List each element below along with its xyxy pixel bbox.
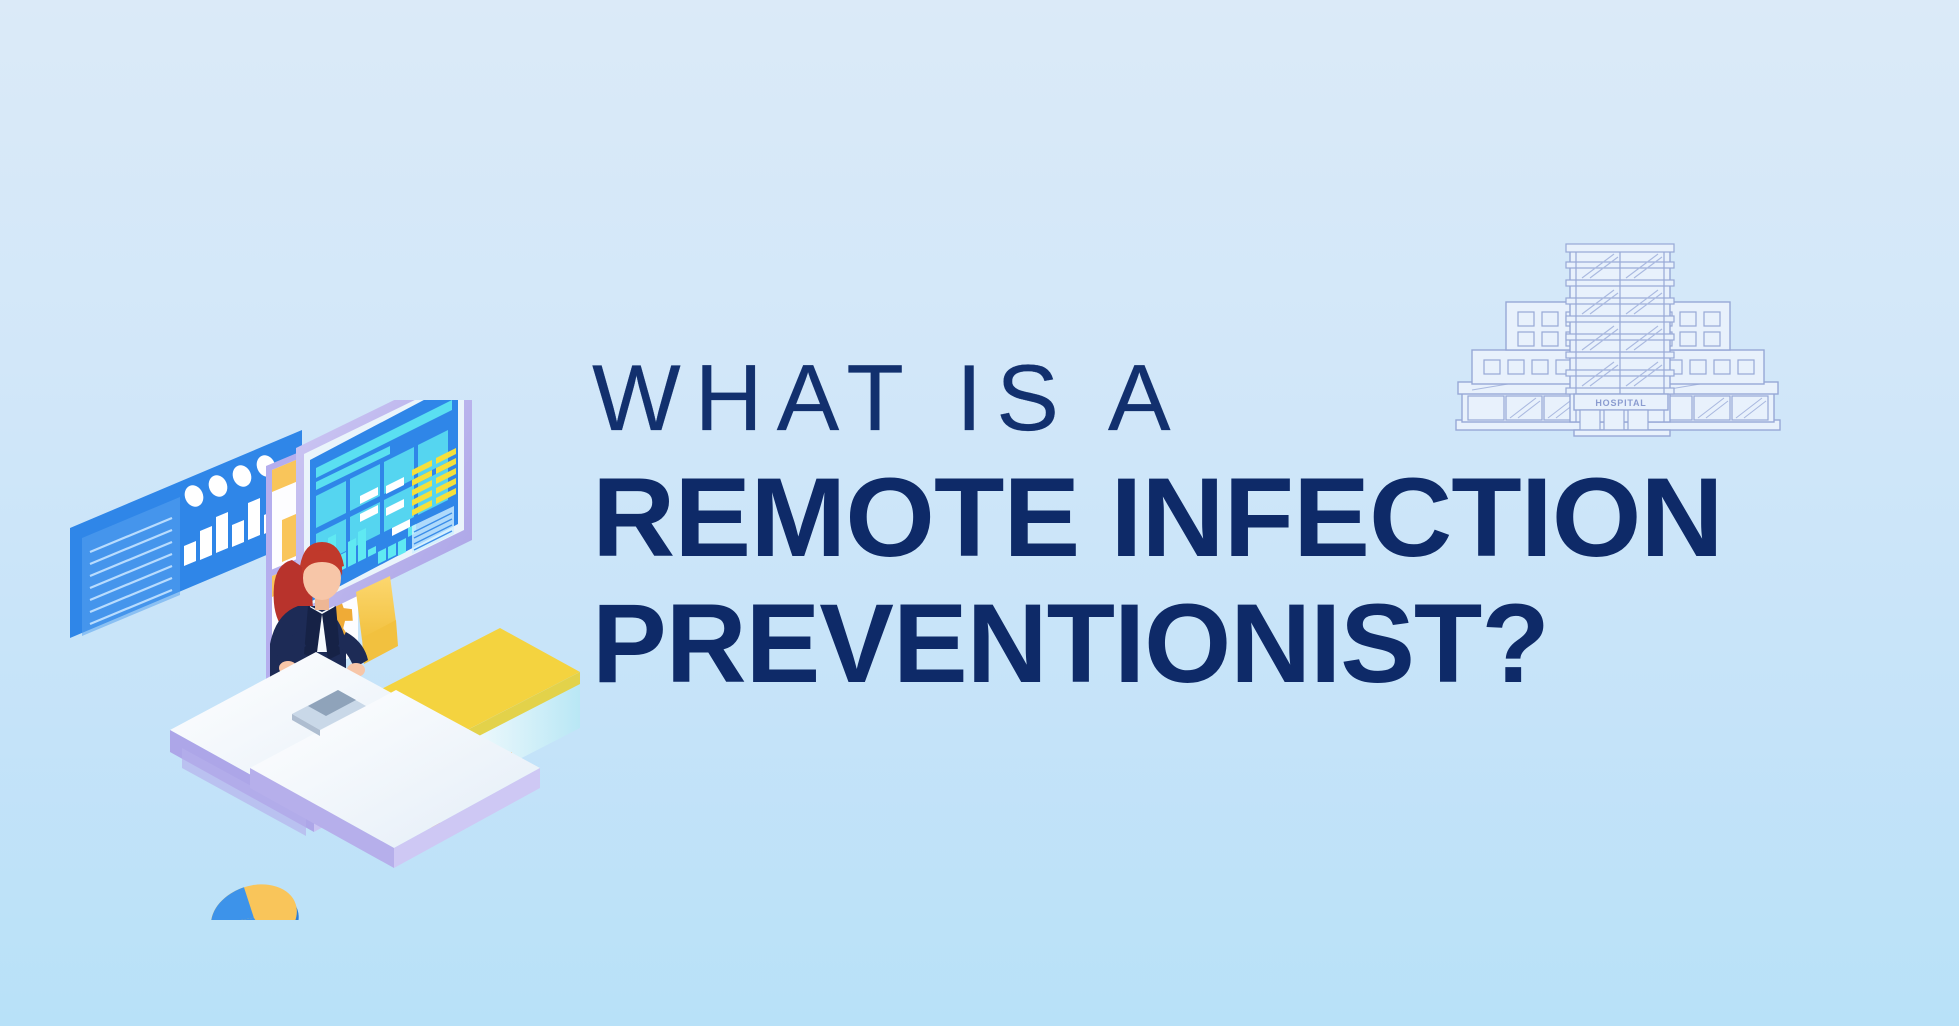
workspace-illustration — [60, 400, 620, 920]
pie-chart-large — [202, 874, 307, 920]
desk — [170, 628, 580, 868]
headline-kicker: WHAT IS A — [592, 352, 1852, 444]
headline-title-line-2: PREVENTIONIST? — [592, 588, 1852, 700]
headline-block: WHAT IS A REMOTE INFECTION PREVENTIONIST… — [592, 352, 1852, 700]
banner-root: HOSPITAL WHAT IS A REMOTE INFECTION PREV… — [0, 0, 1959, 1026]
headline-title-line-1: REMOTE INFECTION — [592, 462, 1890, 574]
